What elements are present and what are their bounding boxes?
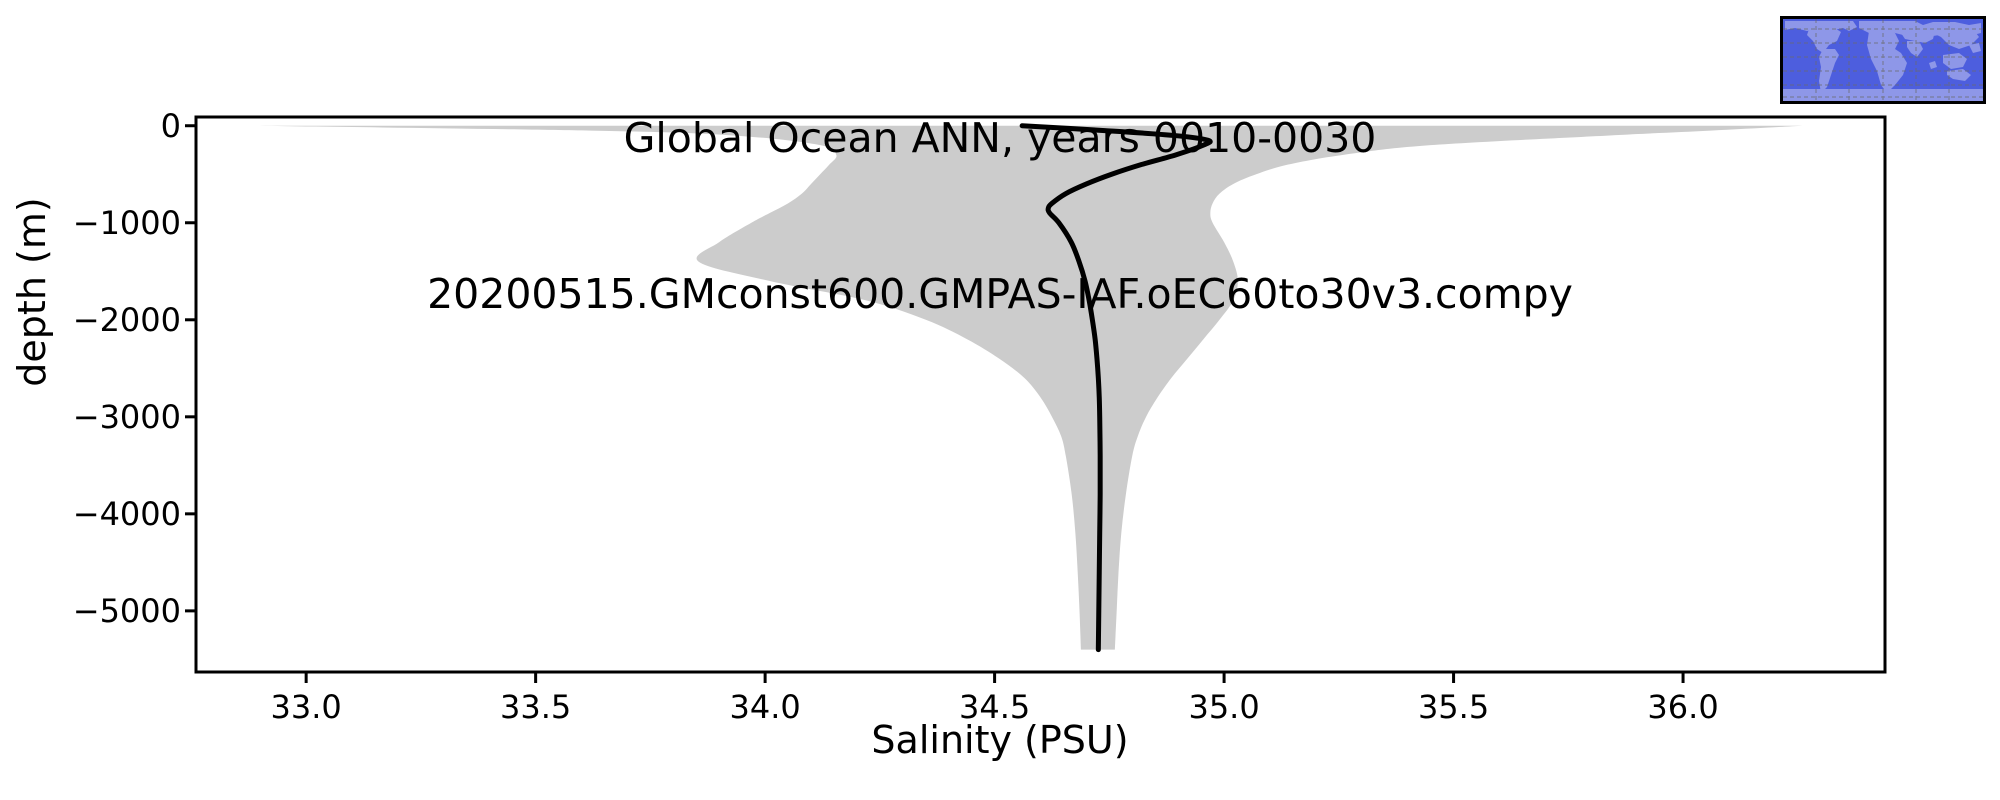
y-tick-label: 0	[6, 107, 181, 145]
y-tick-label: −4000	[6, 495, 181, 533]
world-map-graphic	[1783, 19, 1983, 101]
y-tick-label: −5000	[6, 592, 181, 630]
y-axis-label: depth (m)	[10, 142, 54, 442]
x-axis-label: Salinity (PSU)	[0, 718, 2000, 762]
figure-canvas: Global Ocean ANN, years 0010-0030 202005…	[0, 0, 2000, 800]
world-map-inset	[1780, 16, 1986, 104]
salinity-range-band	[251, 126, 1802, 650]
plot-area	[0, 0, 2000, 800]
